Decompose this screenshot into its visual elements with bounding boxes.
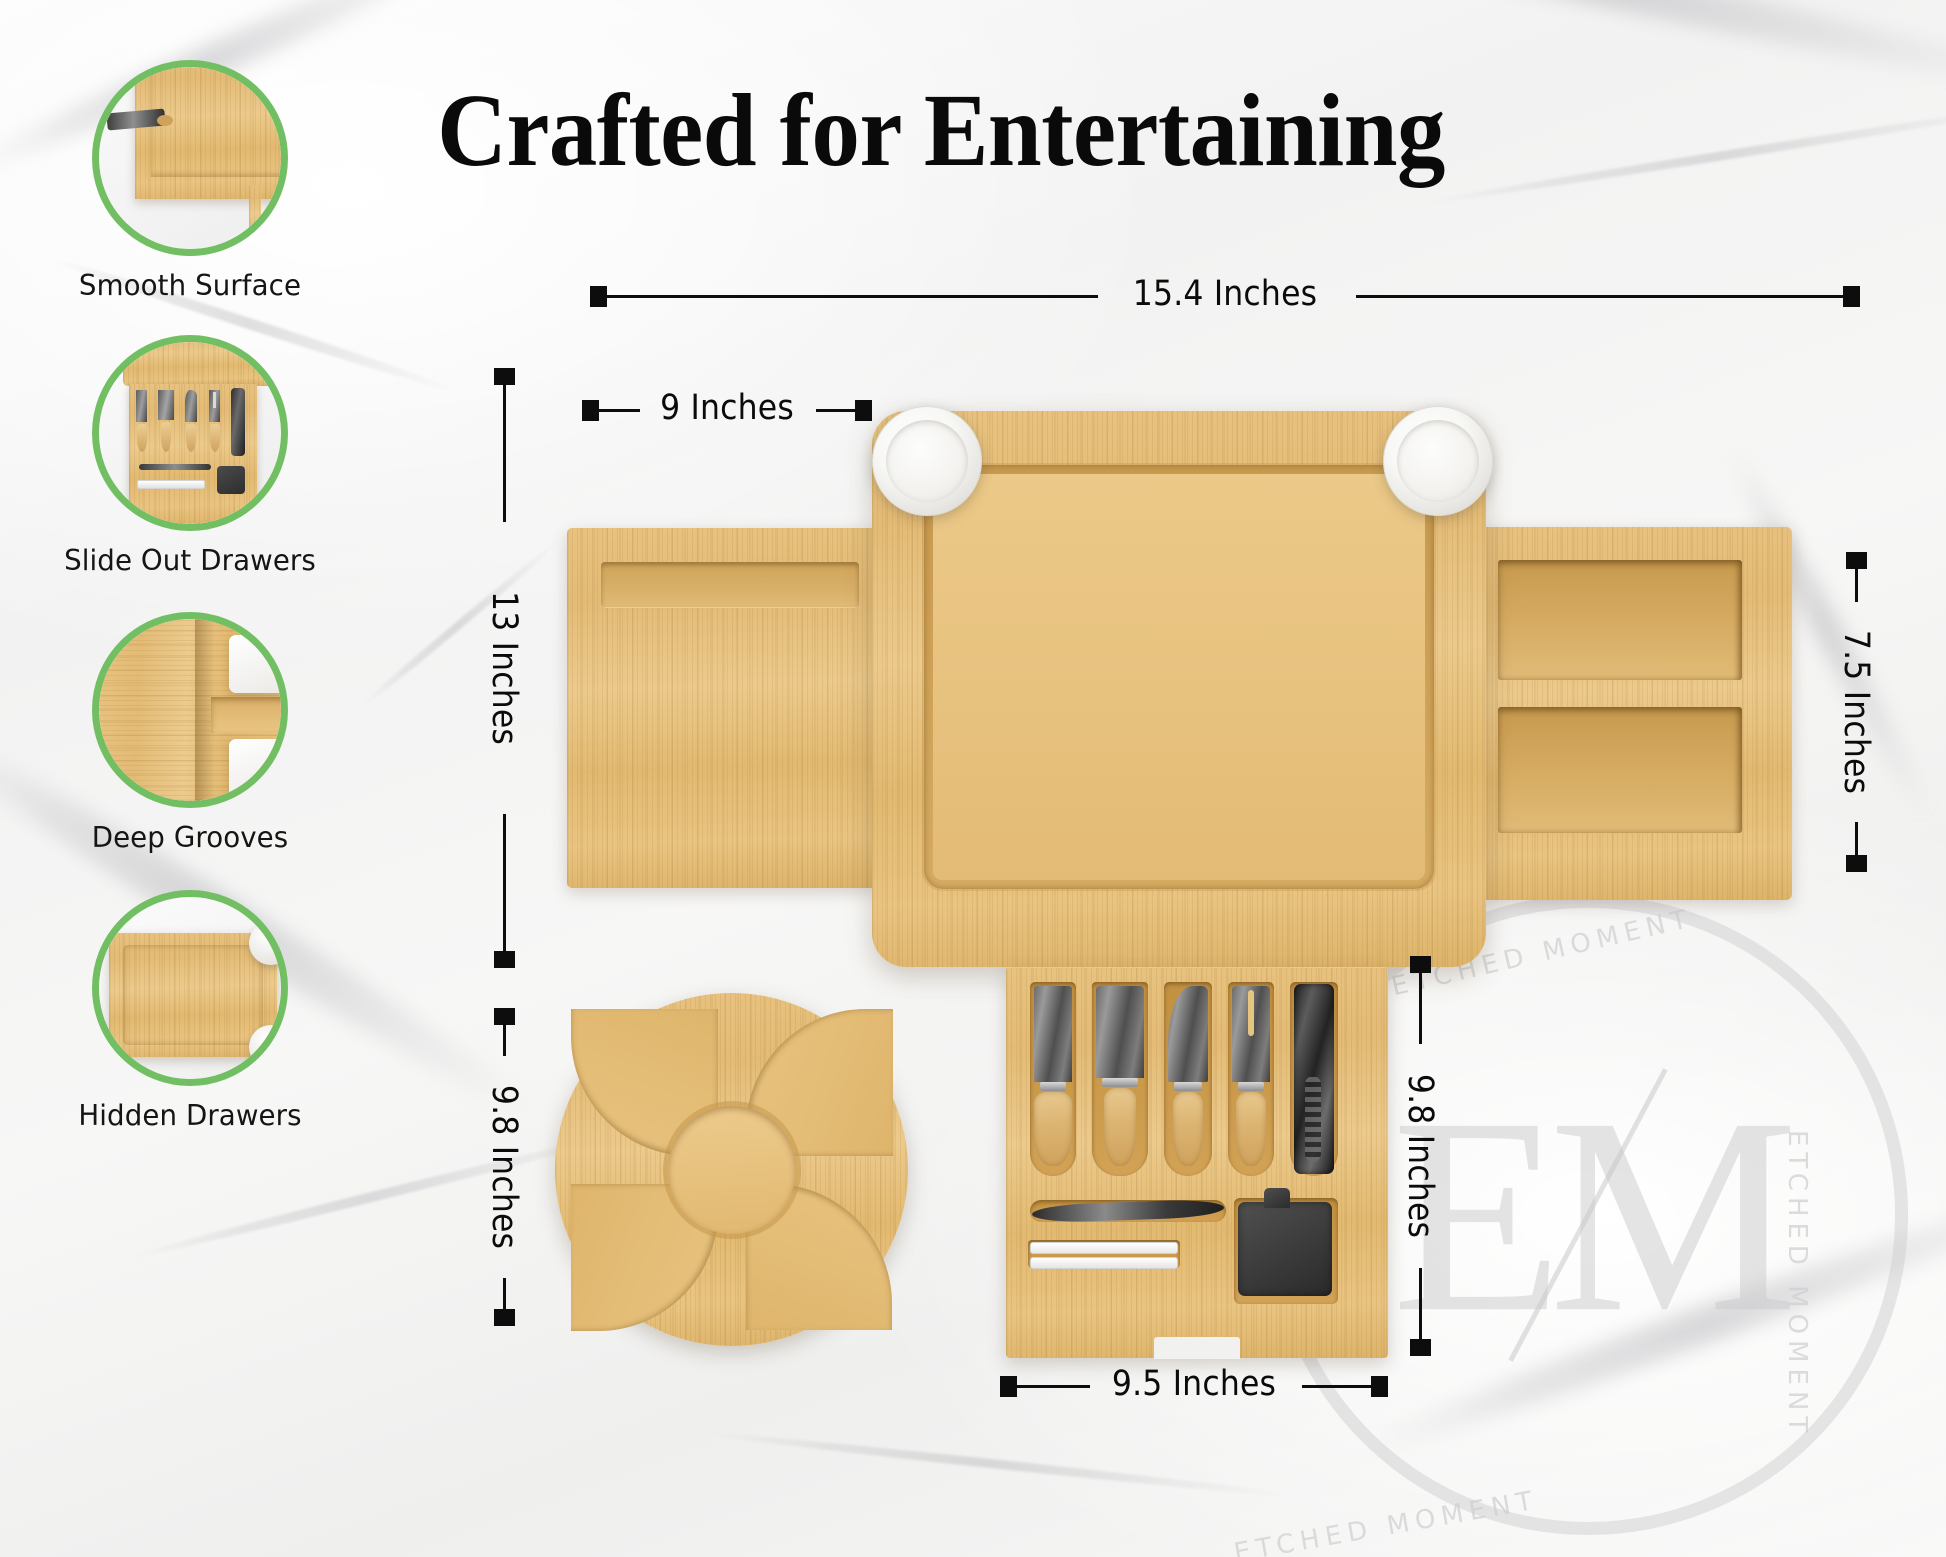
tool-chalk-tag [1238, 1202, 1332, 1296]
dimension-overall-height: 13 Inches [486, 368, 522, 968]
feature-label: Hidden Drawers [60, 1099, 320, 1132]
dimension-label: 9.8 Inches [1400, 1074, 1440, 1238]
feature-thumbnail-hidden-drawers [92, 890, 288, 1086]
ceramic-bowl-left [872, 406, 982, 516]
dimension-tool-drawer-depth: 9.8 Inches [1402, 956, 1438, 1356]
drawer-recess [601, 562, 859, 608]
feature-label: Deep Grooves [60, 821, 320, 854]
tool-cheese-knife [1168, 986, 1208, 1166]
feature-thumbnail-deep-grooves [92, 612, 288, 808]
board-juice-groove [924, 465, 1434, 889]
feature-thumbnail-smooth-surface [92, 60, 288, 256]
dimension-label: 7.5 Inches [1836, 630, 1876, 794]
infographic-canvas: EM ETCHED MOMENT ETCHED MOMENT ETCHED MO… [0, 0, 1946, 1557]
drawer-recess-bottom [1498, 707, 1742, 833]
drawer-pull-notch [1154, 1337, 1240, 1359]
dimension-board-width: 15.4 Inches [590, 278, 1860, 314]
feature-thumbnail-slide-out-drawers [92, 335, 288, 531]
dimension-label: 9.5 Inches [1104, 1364, 1284, 1404]
dimension-label: 15.4 Inches [1125, 274, 1326, 314]
dimension-label: 13 Inches [484, 591, 524, 745]
tool-cheese-fork [1232, 986, 1270, 1166]
product-cheese-tool-drawer [1006, 968, 1388, 1358]
feature-smooth-surface: Smooth Surface [56, 60, 324, 302]
page-title: Crafted for Entertaining [421, 78, 1461, 184]
tool-chalk-stick [1030, 1257, 1178, 1269]
tool-cheese-spade [1096, 986, 1144, 1166]
drawer-recess-top [1498, 560, 1742, 680]
product-right-slide-out-drawer [1482, 527, 1792, 900]
tray-center-compartment [668, 1106, 796, 1234]
watermark-arc-text-right: ETCHED MOMENT [1782, 1130, 1812, 1438]
feature-hidden-drawers: Hidden Drawers [56, 890, 324, 1132]
feature-slide-out-drawers: Slide Out Drawers [56, 335, 324, 577]
feature-label: Smooth Surface [60, 269, 320, 302]
dimension-round-tray-size: 9.8 Inches [486, 1008, 522, 1326]
dimension-tool-drawer-width: 9.5 Inches [1000, 1368, 1388, 1404]
product-round-serving-tray [555, 993, 908, 1346]
tool-corkscrew [1294, 984, 1334, 1174]
dimension-label: 9.8 Inches [484, 1085, 524, 1249]
dimension-label: 9 Inches [652, 388, 802, 428]
feature-deep-grooves: Deep Grooves [56, 612, 324, 854]
dimension-left-drawer-width: 9 Inches [582, 392, 872, 428]
dimension-side-drawer-depth: 7.5 Inches [1838, 552, 1874, 872]
feature-label: Slide Out Drawers [60, 544, 320, 577]
tool-cheese-cleaver [1034, 986, 1072, 1166]
ceramic-bowl-right [1383, 406, 1493, 516]
product-left-slide-out-drawer [567, 528, 877, 888]
tool-chalk-stick [1030, 1242, 1178, 1254]
